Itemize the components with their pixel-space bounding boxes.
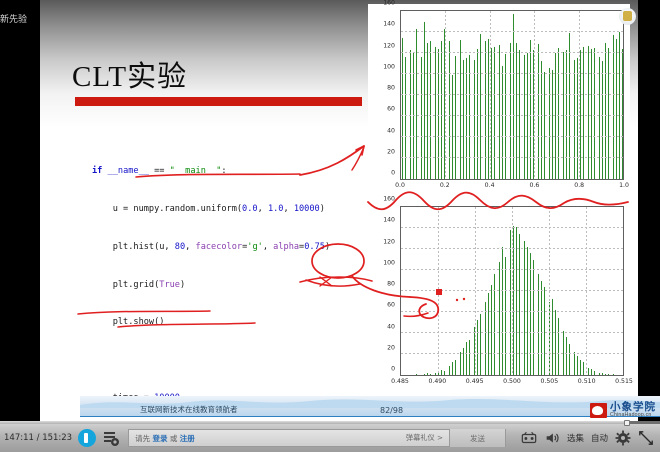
video-player-controls[interactable]: 147:11 / 151:23 请先 登录 或 注册 弹幕礼仪 > 发送 xyxy=(0,424,660,452)
hint-or: 或 xyxy=(167,434,179,443)
time-display: 147:11 / 151:23 xyxy=(4,433,72,443)
x-tick-label: 0.8 xyxy=(574,182,584,189)
gridline xyxy=(401,115,623,116)
time-separator: / xyxy=(37,433,40,443)
gridline xyxy=(401,73,623,74)
y-tick-label: 100 xyxy=(383,259,395,266)
x-tick-label: 0.2 xyxy=(440,182,450,189)
title-underline-rule xyxy=(75,97,362,106)
fullscreen-exit-icon[interactable] xyxy=(638,430,654,446)
gridline xyxy=(401,31,623,32)
x-tick-label: 0.510 xyxy=(578,378,596,385)
bar xyxy=(415,374,418,375)
left-letterbox: 新先验 xyxy=(0,0,40,424)
code-line: plt.hist(u, 80, facecolor='g', alpha=0.7… xyxy=(92,241,392,254)
gridline xyxy=(586,207,587,375)
code-line: u = numpy.random.uniform(0.0, 1.0, 10000… xyxy=(92,203,392,216)
y-tick-label: 20 xyxy=(387,148,395,155)
y-tick-label: 160 xyxy=(383,0,395,7)
gridline xyxy=(445,11,446,179)
gridline xyxy=(512,207,513,375)
y-tick-label: 120 xyxy=(383,42,395,49)
y-tick-label: 120 xyxy=(383,238,395,245)
time-total: 151:23 xyxy=(42,433,72,443)
progress-bar[interactable] xyxy=(0,421,660,424)
y-tick-label: 100 xyxy=(383,63,395,70)
gridline xyxy=(490,11,491,179)
chart-uniform-histogram: 020406080100120140160 0.00.20.40.60.81.0 xyxy=(368,4,630,200)
time-current: 147:11 xyxy=(4,433,34,443)
y-tick-label: 80 xyxy=(387,85,395,92)
login-link[interactable]: 登录 xyxy=(152,434,167,443)
gridline xyxy=(401,52,623,53)
episodes-button[interactable]: 选集 xyxy=(567,432,584,444)
gear-icon[interactable] xyxy=(615,430,631,446)
x-tick-label: 0.515 xyxy=(615,378,633,385)
y-tick-label: 20 xyxy=(387,344,395,351)
avatar[interactable] xyxy=(619,8,636,25)
gridline xyxy=(401,157,623,158)
danmaku-settings-icon[interactable] xyxy=(102,429,120,447)
code-line: plt.grid(True) xyxy=(92,279,392,292)
footer-divider-line xyxy=(80,416,660,418)
danmaku-input[interactable]: 请先 登录 或 注册 弹幕礼仪 > 发送 xyxy=(128,429,506,447)
y-tick-label: 0 xyxy=(391,170,395,177)
slide-footer: 互联网新技术在线教育领航者 82/98 小象学院 ChinaHadoop.cn xyxy=(80,396,660,422)
y-tick-label: 80 xyxy=(387,281,395,288)
brand-logo: 小象学院 ChinaHadoop.cn xyxy=(590,402,656,418)
progress-knob[interactable] xyxy=(624,420,630,426)
gridline xyxy=(549,207,550,375)
x-axis-ticks: 0.4850.4900.4950.5000.5050.5100.515 xyxy=(400,378,624,388)
gridline xyxy=(401,94,623,95)
x-tick-label: 0.500 xyxy=(503,378,521,385)
code-line: plt.show() xyxy=(92,316,392,329)
code-block: if __name__ == "__main__": u = numpy.ran… xyxy=(92,140,392,424)
x-tick-label: 0.505 xyxy=(540,378,558,385)
screenshot-root: 新先验 CLT实验 if __name__ == "__main__": u =… xyxy=(0,0,660,452)
code-line xyxy=(92,354,392,367)
y-tick-label: 40 xyxy=(387,323,395,330)
plot-area xyxy=(400,10,624,180)
y-axis-ticks: 020406080100120140160 xyxy=(368,206,398,376)
x-tick-label: 0.485 xyxy=(391,378,409,385)
y-tick-label: 160 xyxy=(383,196,395,203)
danmaku-send-button[interactable]: 发送 xyxy=(449,429,505,447)
right-letterbox xyxy=(638,0,660,424)
video-stage[interactable]: 新先验 CLT实验 if __name__ == "__main__": u =… xyxy=(0,0,660,424)
quality-auto-button[interactable]: 自动 xyxy=(591,432,608,444)
hint-prefix: 请先 xyxy=(135,434,152,443)
avatar-image xyxy=(623,11,632,21)
bar xyxy=(607,374,610,375)
elephant-logo-icon xyxy=(590,403,607,418)
bar xyxy=(612,374,615,375)
x-tick-label: 0.495 xyxy=(466,378,484,385)
chart-clt-histogram: 020406080100120140160 0.4850.4900.4950.5… xyxy=(368,200,630,396)
register-link[interactable]: 注册 xyxy=(180,434,195,443)
logo-name-en: ChinaHadoop.cn xyxy=(610,413,656,418)
x-tick-label: 1.0 xyxy=(619,182,629,189)
gridline xyxy=(438,207,439,375)
bar-series xyxy=(401,11,623,179)
volume-icon[interactable] xyxy=(544,430,560,446)
slide-page-indicator: 82/98 xyxy=(380,406,403,415)
gridline xyxy=(475,207,476,375)
y-tick-label: 60 xyxy=(387,302,395,309)
danmaku-login-hint: 请先 登录 或 注册 xyxy=(135,433,195,444)
x-tick-label: 0.4 xyxy=(485,182,495,189)
screenshot-icon[interactable] xyxy=(521,430,537,446)
danmaku-etiquette-link[interactable]: 弹幕礼仪 > xyxy=(406,433,443,443)
page-title: CLT实验 xyxy=(72,53,187,95)
x-tick-label: 0.6 xyxy=(529,182,539,189)
x-tick-label: 0.0 xyxy=(395,182,405,189)
progress-played xyxy=(0,421,627,424)
danmaku-toggle-icon[interactable] xyxy=(78,429,96,447)
y-tick-label: 40 xyxy=(387,127,395,134)
bar xyxy=(621,49,624,179)
y-tick-label: 60 xyxy=(387,106,395,113)
y-axis-ticks: 020406080100120140160 xyxy=(368,10,398,180)
footer-slogan: 互联网新技术在线教育领航者 xyxy=(140,404,238,415)
plot-area xyxy=(400,206,624,376)
x-axis-ticks: 0.00.20.40.60.81.0 xyxy=(400,182,624,192)
code-line: if __name__ == "__main__": xyxy=(92,165,392,178)
left-edge-label: 新先验 xyxy=(0,12,40,25)
x-tick-label: 0.490 xyxy=(428,378,446,385)
y-tick-label: 140 xyxy=(383,21,395,28)
y-tick-label: 0 xyxy=(391,366,395,373)
gridline xyxy=(401,136,623,137)
gridline xyxy=(401,10,623,11)
gridline xyxy=(579,11,580,179)
y-tick-label: 140 xyxy=(383,217,395,224)
gridline xyxy=(534,11,535,179)
